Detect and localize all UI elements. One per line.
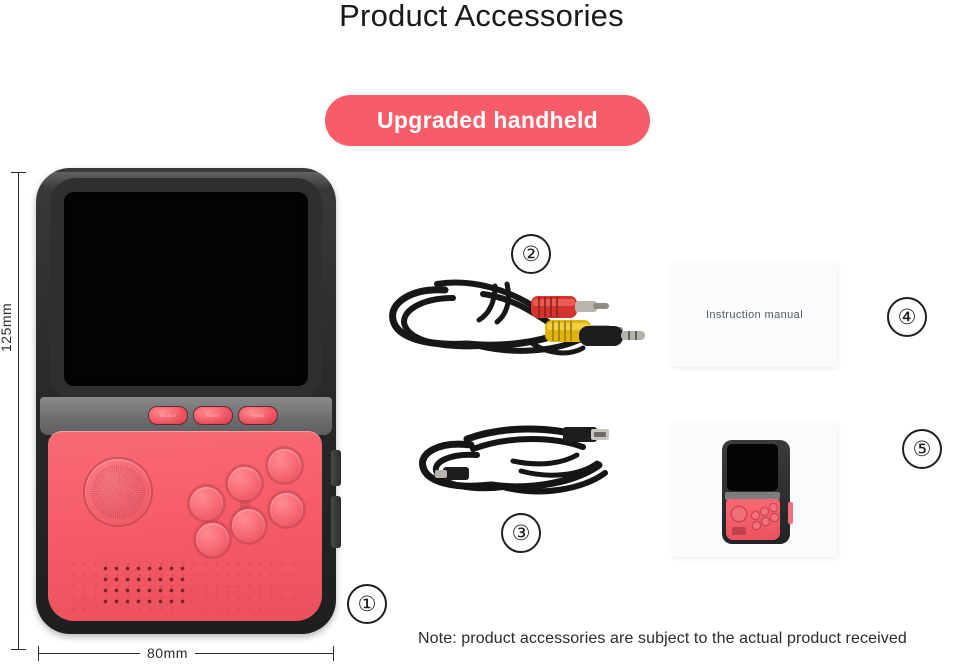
speaker-grille-dark	[100, 563, 192, 605]
upgraded-handheld-badge: Upgraded handheld	[325, 95, 650, 146]
marker-item-4: ④	[887, 297, 927, 337]
action-button-2[interactable]	[228, 467, 261, 500]
mini-action-button-2	[761, 508, 768, 515]
mini-action-button-6	[771, 514, 778, 521]
height-dimension-line	[18, 172, 19, 650]
select-button[interactable]: SELECT	[148, 406, 188, 425]
mini-dpad-icon	[732, 507, 746, 521]
height-dimension-label: 125mm	[0, 303, 14, 352]
mini-handheld-console	[722, 440, 790, 544]
side-button-upper[interactable]	[331, 450, 341, 486]
mini-action-button-4	[753, 522, 760, 529]
rca-red-connector	[531, 296, 609, 318]
usb-connector-a	[563, 427, 609, 442]
mini-console-card	[672, 422, 837, 557]
usb-charging-cable	[413, 415, 628, 510]
action-button-4[interactable]	[196, 523, 229, 556]
mini-side-button	[788, 502, 793, 524]
instruction-manual-label: Instruction manual	[672, 262, 837, 367]
console-face-plate	[48, 431, 322, 621]
audio-jack-connector	[579, 326, 645, 346]
handheld-console: SELECT START HOME	[36, 168, 336, 634]
dpad-joystick[interactable]	[85, 459, 151, 525]
marker-item-2: ②	[511, 234, 551, 274]
side-button-lower[interactable]	[331, 496, 341, 548]
page-title: Product Accessories	[0, 0, 963, 36]
marker-item-5: ⑤	[902, 429, 942, 469]
action-button-5[interactable]	[232, 509, 265, 542]
action-button-6[interactable]	[270, 493, 303, 526]
footer-note: Note: product accessories are subject to…	[418, 630, 907, 648]
av-cable-illustration	[383, 268, 648, 368]
usb-cable-illustration	[413, 415, 628, 510]
marker-item-1: ①	[347, 584, 387, 624]
width-dimension-label: 80mm	[140, 645, 195, 661]
console-mini-button-row: SELECT START HOME	[148, 405, 278, 425]
action-button-3[interactable]	[268, 449, 301, 482]
action-button-1[interactable]	[190, 487, 223, 520]
mini-action-button-1	[752, 512, 759, 519]
mini-action-button-3	[770, 504, 777, 511]
marker-item-3: ③	[501, 513, 541, 553]
start-button[interactable]: START	[193, 406, 233, 425]
console-screen	[64, 192, 308, 386]
action-button-cluster	[188, 447, 308, 557]
mini-speaker-grille	[732, 527, 746, 535]
mini-action-button-5	[762, 518, 769, 525]
home-button[interactable]: HOME	[238, 406, 278, 425]
badge-label: Upgraded handheld	[377, 107, 598, 134]
instruction-manual-card: Instruction manual	[672, 262, 837, 367]
mini-console-screen	[727, 444, 778, 491]
mini-console-face-plate	[726, 499, 780, 540]
console-screen-bezel	[50, 178, 322, 400]
av-cable	[383, 268, 648, 368]
